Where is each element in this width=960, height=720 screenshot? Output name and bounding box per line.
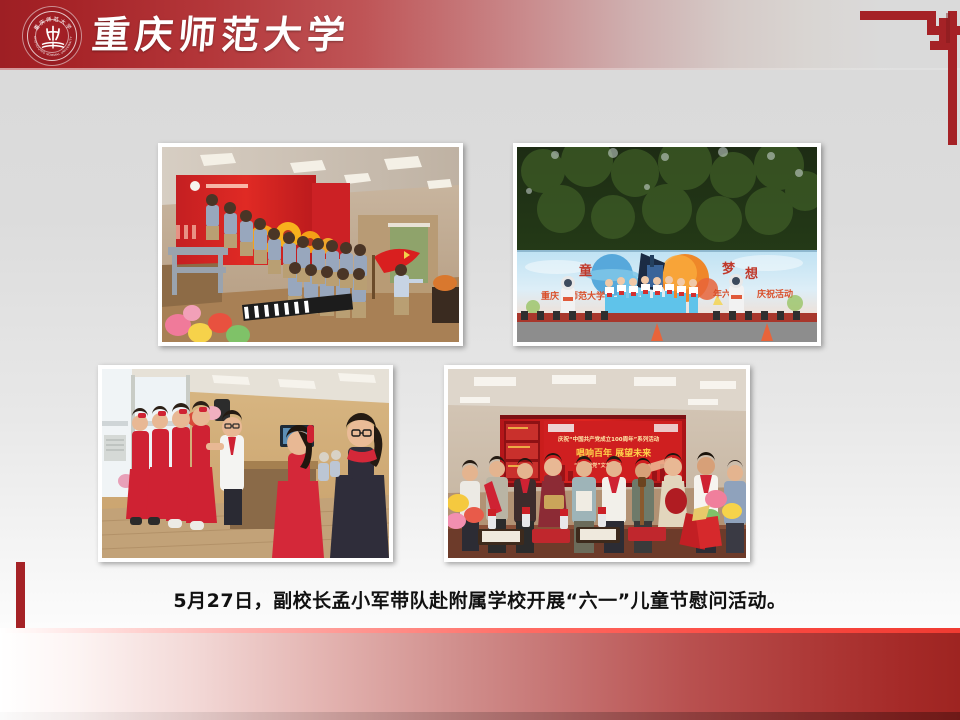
svg-text:想: 想 (745, 266, 758, 282)
slide-header-band: 重庆师范大学 CHONGQING NORMAL UNIVERSITY (0, 0, 960, 70)
svg-text:庆祝“中国共产党成立100周年”系列活动: 庆祝“中国共产党成立100周年”系列活动 (557, 435, 660, 443)
photo-image (102, 369, 389, 558)
presentation-slide: 重庆师范大学 CHONGQING NORMAL UNIVERSITY (0, 0, 960, 720)
svg-text:童: 童 (579, 263, 592, 279)
group-photo-on-stage[interactable]: 庆祝“中国共产党成立100周年”系列活动 唱响百年 展望未来 “颂歌献党”文艺展… (444, 365, 750, 562)
choir-performance-photo[interactable] (158, 143, 463, 346)
photo-image (162, 147, 459, 342)
emblem-artwork-icon: 重庆师范大学 CHONGQING NORMAL UNIVERSITY (23, 7, 83, 67)
meander-corner-icon (842, 0, 960, 145)
corner-ornament-top-right (842, 0, 960, 145)
red-scarf-ceremony-photo[interactable] (98, 365, 393, 562)
university-emblem: 重庆师范大学 CHONGQING NORMAL UNIVERSITY (22, 6, 82, 66)
slide-caption: 5月27日，副校长孟小军带队赴附属学校开展“六一”儿童节慰问活动。 (0, 586, 960, 613)
photo-image: 童梦想 重庆师范大学年六·一庆祝活动 (517, 147, 817, 342)
photo-image: 庆祝“中国共产党成立100周年”系列活动 唱响百年 展望未来 “颂歌献党”文艺展… (448, 369, 746, 558)
slide-footer-band (0, 628, 960, 720)
university-name-title: 重庆师范大学 (90, 8, 353, 62)
footer-highlight-line (0, 628, 960, 633)
svg-text:庆祝活动: 庆祝活动 (756, 288, 793, 300)
footer-shadow (0, 712, 960, 720)
outdoor-stage-performance-photo[interactable]: 童梦想 重庆师范大学年六·一庆祝活动 (513, 143, 821, 346)
svg-text:重庆: 重庆 (541, 290, 559, 302)
